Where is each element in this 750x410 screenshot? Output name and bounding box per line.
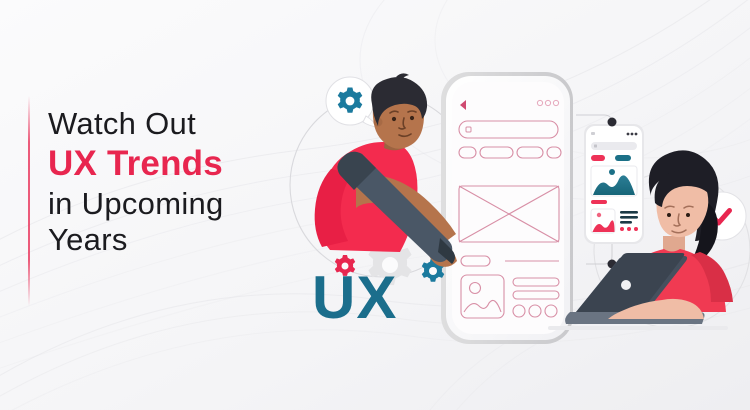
gear-speech-bubble [326,77,377,127]
desk-surface [548,326,728,330]
large-phone-wireframe [441,72,573,344]
mockup-mountain-image [591,166,637,196]
illustration [0,0,750,410]
status-bar [591,132,595,135]
mockup-pink-pill [591,155,605,161]
mockup-menu-dots [627,133,638,136]
laptop-logo [621,280,631,290]
mockup-teal-pill [615,155,631,161]
ux-trends-banner: Watch Out UX Trends in Upcoming Years [0,0,750,410]
ux-wordmark: UX [312,268,397,328]
mockup-search-field [591,142,637,150]
mockup-pink-chip [591,200,607,204]
mockup-photo-card [591,209,615,233]
connector-node-top [608,118,617,127]
small-phone-mockup [576,115,644,269]
mockup-dot-row [620,227,638,231]
